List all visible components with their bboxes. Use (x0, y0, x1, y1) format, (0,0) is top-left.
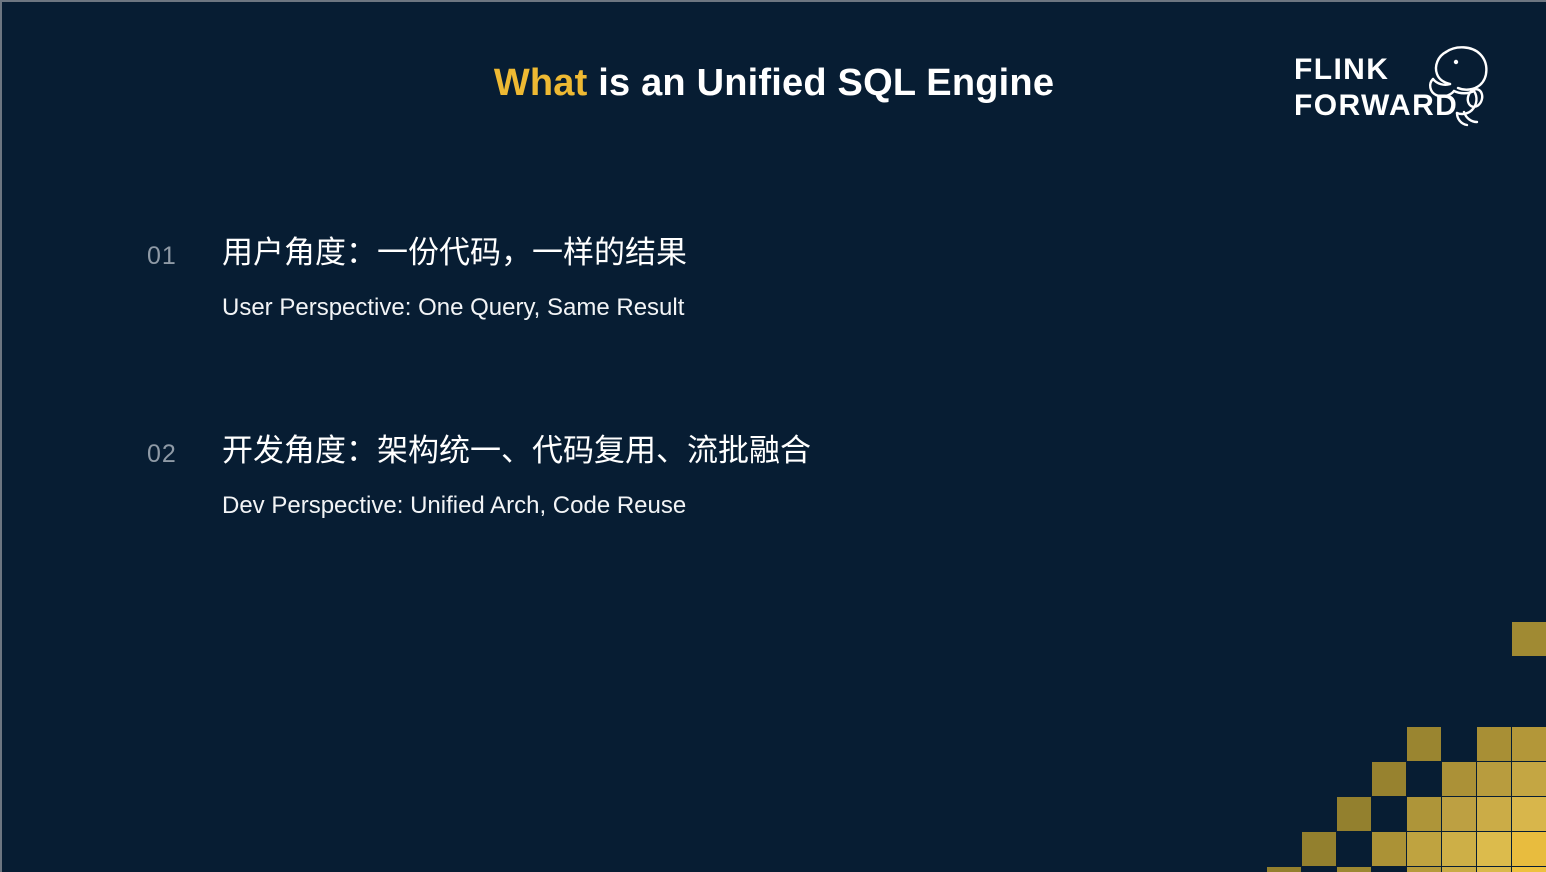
checkerboard-cell (1477, 762, 1511, 796)
list-item-subtext: User Perspective: One Query, Same Result (222, 291, 687, 325)
checkerboard-decoration (1267, 622, 1546, 872)
checkerboard-cell (1442, 867, 1476, 872)
checkerboard-cell (1477, 832, 1511, 866)
page-title-accent: What (494, 62, 588, 104)
page-title-rest: is an Unified SQL Engine (587, 62, 1054, 104)
checkerboard-cell (1512, 727, 1546, 761)
squirrel-icon (1412, 40, 1504, 132)
list-item-body: 用户角度：一份代码，一样的结果 User Perspective: One Qu… (222, 230, 687, 325)
list-item-heading: 开发角度：架构统一、代码复用、流批融合 (222, 428, 811, 474)
list-item-body: 开发角度：架构统一、代码复用、流批融合 Dev Perspective: Uni… (222, 428, 811, 523)
checkerboard-cell (1512, 832, 1546, 866)
checkerboard-cell (1407, 727, 1441, 761)
list-item-heading: 用户角度：一份代码，一样的结果 (222, 230, 687, 276)
checkerboard-cell (1477, 797, 1511, 831)
checkerboard-cell (1407, 867, 1441, 872)
checkerboard-cell (1407, 797, 1441, 831)
list-item: 01 用户角度：一份代码，一样的结果 User Perspective: One… (147, 230, 687, 325)
flink-forward-logo: FLINK FORWARD (1294, 46, 1494, 130)
list-item-index: 02 (147, 440, 177, 469)
checkerboard-cell (1512, 622, 1546, 656)
checkerboard-cell (1302, 832, 1336, 866)
checkerboard-cell (1512, 762, 1546, 796)
checkerboard-cell (1267, 867, 1301, 872)
list-item-index: 01 (147, 242, 177, 271)
list-item: 02 开发角度：架构统一、代码复用、流批融合 Dev Perspective: … (147, 428, 811, 523)
checkerboard-cell (1512, 867, 1546, 872)
checkerboard-cell (1372, 832, 1406, 866)
checkerboard-cell (1442, 762, 1476, 796)
checkerboard-cell (1477, 867, 1511, 872)
list-item-subtext: Dev Perspective: Unified Arch, Code Reus… (222, 489, 811, 523)
checkerboard-cell (1337, 867, 1371, 872)
checkerboard-cell (1372, 762, 1406, 796)
checkerboard-cell (1407, 832, 1441, 866)
checkerboard-cell (1337, 797, 1371, 831)
slide-canvas: What is an Unified SQL Engine FLINK FORW… (0, 0, 1546, 872)
checkerboard-cell (1442, 797, 1476, 831)
checkerboard-cell (1442, 832, 1476, 866)
checkerboard-cell (1512, 797, 1546, 831)
checkerboard-cell (1477, 727, 1511, 761)
